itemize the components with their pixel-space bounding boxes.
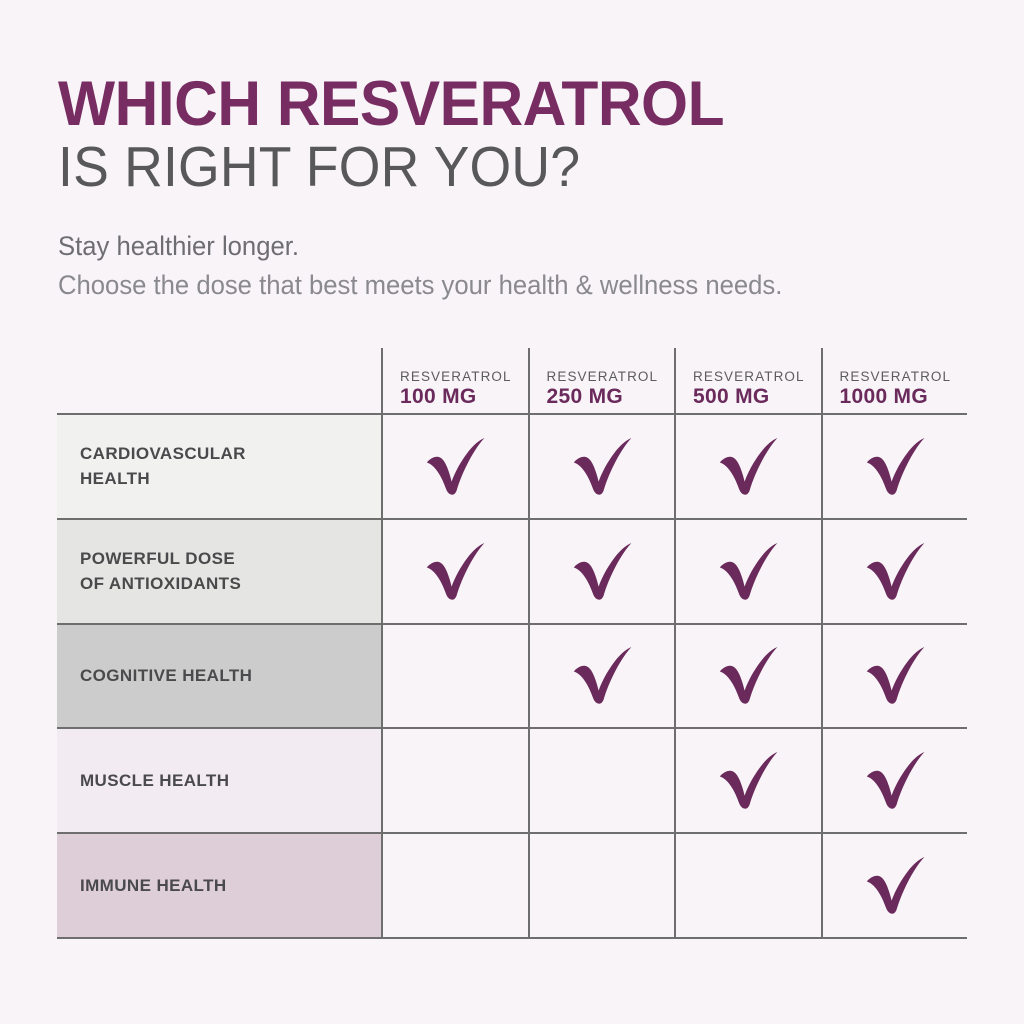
- cell-r1-c0: [381, 520, 528, 623]
- column-header-100mg: RESVERATROL 100 MG: [381, 348, 528, 413]
- page-title-line-1: WHICH RESVERATROL: [58, 74, 951, 134]
- subtitle-primary: Stay healthier longer.: [58, 226, 942, 266]
- checkmark-icon: [864, 647, 926, 704]
- column-header-500mg: RESVERATROL 500 MG: [674, 348, 821, 413]
- column-dose: 500 MG: [693, 385, 821, 409]
- checkmark-icon: [717, 647, 779, 704]
- table-row: COGNITIVE HEALTH: [57, 623, 967, 728]
- row-label-cell: COGNITIVE HEALTH: [57, 625, 381, 728]
- checkmark-icon: [424, 438, 486, 495]
- row-label-line: COGNITIVE HEALTH: [80, 666, 252, 685]
- checkmark-icon: [864, 857, 926, 914]
- checkmark-icon: [864, 543, 926, 600]
- page-title-line-2: IS RIGHT FOR YOU?: [58, 136, 932, 198]
- row-label-text: MUSCLE HEALTH: [80, 768, 229, 793]
- cell-r3-c3: [821, 729, 968, 832]
- cell-r2-c0: [381, 625, 528, 728]
- column-eyebrow: RESVERATROL: [840, 368, 968, 385]
- checkmark-icon: [571, 543, 633, 600]
- column-header-250mg: RESVERATROL 250 MG: [528, 348, 675, 413]
- checkmark-icon: [571, 647, 633, 704]
- row-label-cell: MUSCLE HEALTH: [57, 729, 381, 832]
- cell-r4-c1: [528, 834, 675, 937]
- resveratrol-comparison-table: RESVERATROL 100 MG RESVERATROL 250 MG RE…: [57, 348, 967, 939]
- cell-r0-c2: [674, 415, 821, 518]
- cell-r3-c2: [674, 729, 821, 832]
- checkmark-icon: [717, 543, 779, 600]
- row-label-cell: POWERFUL DOSE OF ANTIOXIDANTS: [57, 520, 381, 623]
- cell-r4-c2: [674, 834, 821, 937]
- cell-r4-c3: [821, 834, 968, 937]
- checkmark-icon: [864, 752, 926, 809]
- column-dose: 100 MG: [400, 385, 528, 409]
- subtitle-secondary: Choose the dose that best meets your hea…: [58, 266, 942, 304]
- row-label-text: CARDIOVASCULAR HEALTH: [80, 441, 246, 491]
- cell-r0-c3: [821, 415, 968, 518]
- row-label-text: COGNITIVE HEALTH: [80, 663, 252, 688]
- cell-r3-c1: [528, 729, 675, 832]
- row-label-line: POWERFUL DOSE: [80, 549, 235, 568]
- cell-r1-c1: [528, 520, 675, 623]
- row-label-line: IMMUNE HEALTH: [80, 876, 227, 895]
- header-block: WHICH RESVERATROL IS RIGHT FOR YOU? Stay…: [58, 74, 988, 304]
- checkmark-icon: [424, 543, 486, 600]
- table-row: IMMUNE HEALTH: [57, 832, 967, 939]
- table-row: POWERFUL DOSE OF ANTIOXIDANTS: [57, 518, 967, 623]
- cell-r0-c1: [528, 415, 675, 518]
- column-eyebrow: RESVERATROL: [400, 368, 528, 385]
- table-corner-spacer: [57, 348, 381, 413]
- checkmark-icon: [717, 438, 779, 495]
- column-header-1000mg: RESVERATROL 1000 MG: [821, 348, 968, 413]
- cell-r1-c3: [821, 520, 968, 623]
- checkmark-icon: [864, 438, 926, 495]
- row-label-line: OF ANTIOXIDANTS: [80, 574, 241, 593]
- cell-r2-c1: [528, 625, 675, 728]
- cell-r1-c2: [674, 520, 821, 623]
- cell-r4-c0: [381, 834, 528, 937]
- column-dose: 250 MG: [547, 385, 675, 409]
- row-label-text: POWERFUL DOSE OF ANTIOXIDANTS: [80, 546, 241, 596]
- checkmark-icon: [717, 752, 779, 809]
- cell-r0-c0: [381, 415, 528, 518]
- table-row: CARDIOVASCULAR HEALTH: [57, 413, 967, 518]
- column-eyebrow: RESVERATROL: [693, 368, 821, 385]
- row-label-cell: CARDIOVASCULAR HEALTH: [57, 415, 381, 518]
- table-header-row: RESVERATROL 100 MG RESVERATROL 250 MG RE…: [57, 348, 967, 413]
- row-label-line: HEALTH: [80, 469, 150, 488]
- row-label-text: IMMUNE HEALTH: [80, 873, 227, 898]
- cell-r2-c2: [674, 625, 821, 728]
- cell-r3-c0: [381, 729, 528, 832]
- column-eyebrow: RESVERATROL: [547, 368, 675, 385]
- row-label-line: MUSCLE HEALTH: [80, 771, 229, 790]
- row-label-line: CARDIOVASCULAR: [80, 444, 246, 463]
- column-dose: 1000 MG: [840, 385, 968, 409]
- cell-r2-c3: [821, 625, 968, 728]
- row-label-cell: IMMUNE HEALTH: [57, 834, 381, 937]
- table-row: MUSCLE HEALTH: [57, 727, 967, 832]
- checkmark-icon: [571, 438, 633, 495]
